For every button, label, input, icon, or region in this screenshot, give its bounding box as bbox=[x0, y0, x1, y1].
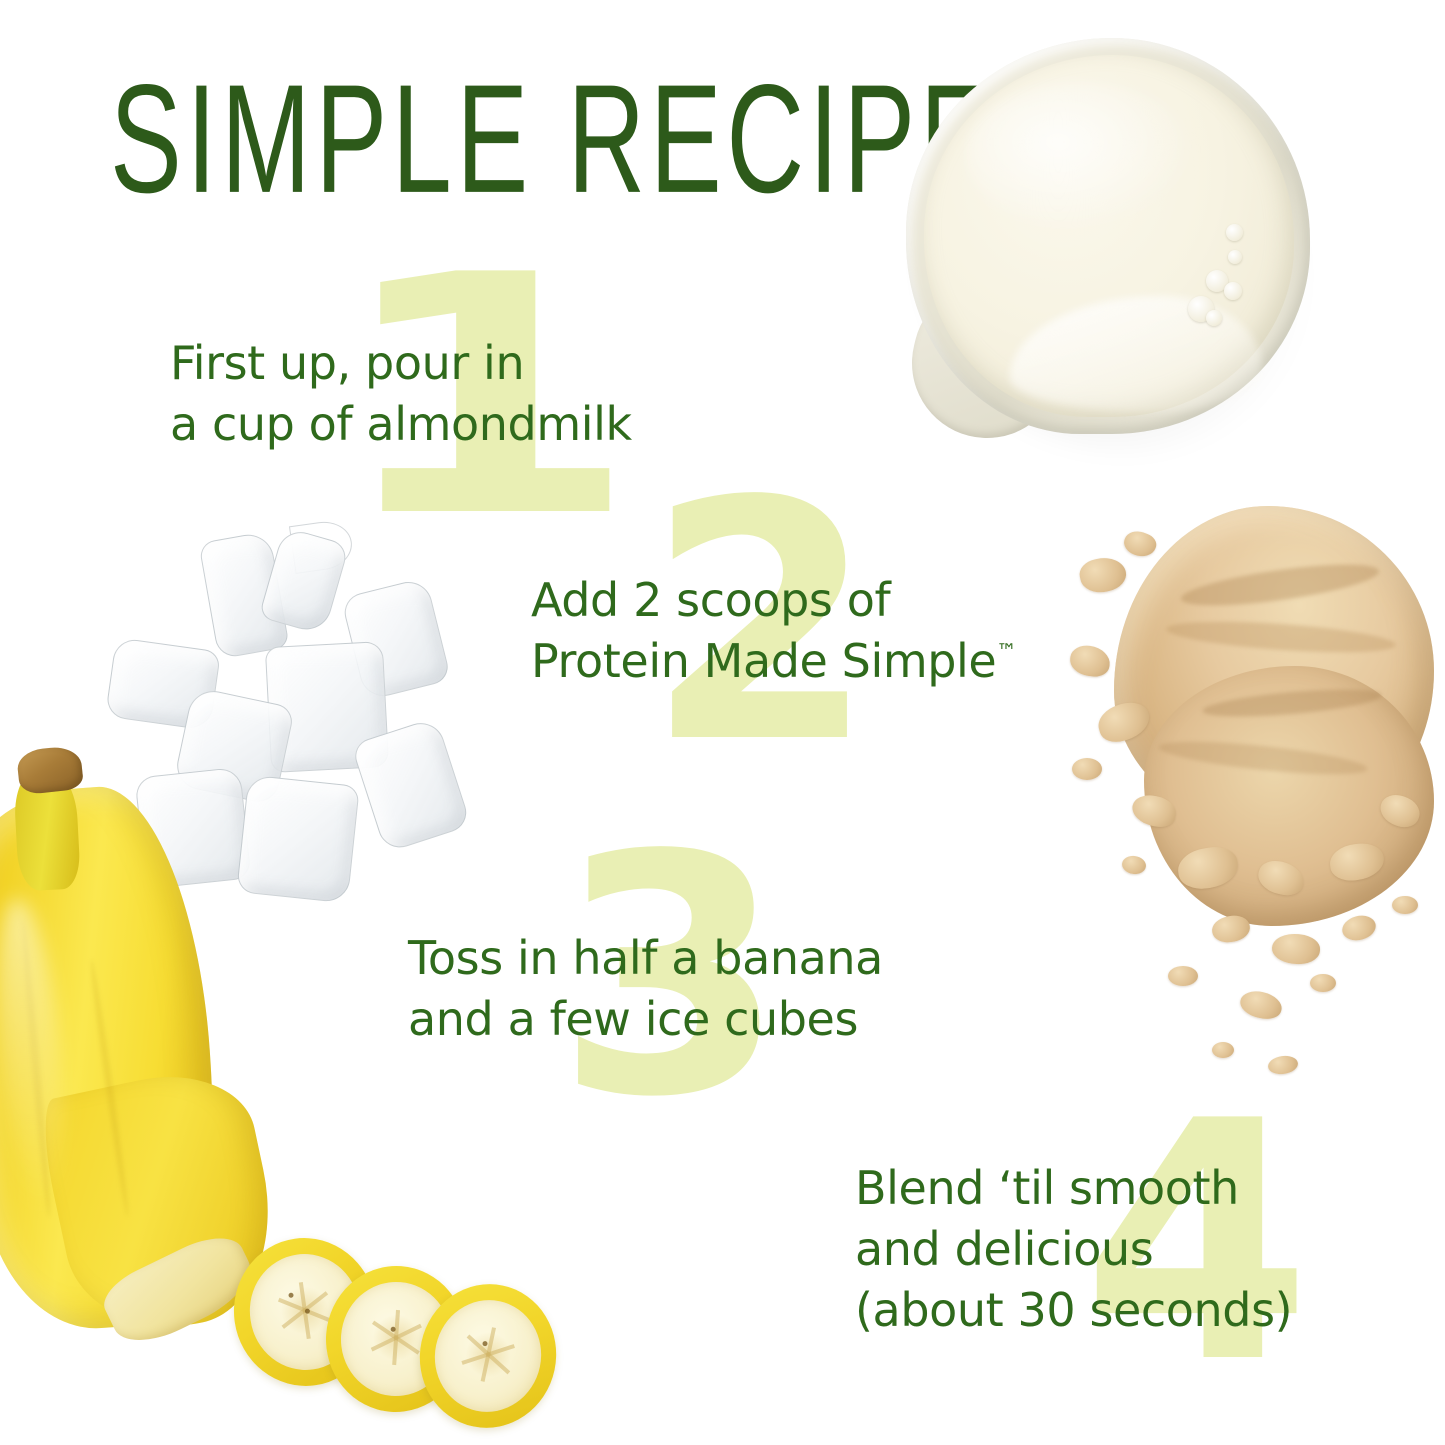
powder-crumb bbox=[1340, 912, 1379, 944]
step-2-text: Add 2 scoops of Protein Made Simple™ bbox=[531, 570, 1017, 692]
powder-crumb bbox=[1068, 643, 1112, 678]
step-1-line-2: a cup of almondmilk bbox=[170, 394, 632, 455]
step-4-line-3: (about 30 seconds) bbox=[855, 1280, 1292, 1341]
milk-bubble bbox=[1228, 250, 1242, 264]
recipe-infographic: SIMPLE RECIPE 1 First up, pour in a cup … bbox=[0, 0, 1445, 1445]
step-2-line-2: Protein Made Simple™ bbox=[531, 631, 1017, 692]
banana-image bbox=[0, 748, 294, 1348]
milk-bubble bbox=[1206, 310, 1222, 326]
powder-crumb bbox=[1072, 758, 1102, 780]
banana-seed-dot bbox=[482, 1340, 488, 1346]
trademark-symbol: ™ bbox=[996, 639, 1016, 663]
step-4-line-2: and delicious bbox=[855, 1219, 1292, 1280]
page-title: SIMPLE RECIPE bbox=[110, 62, 996, 217]
powder-crumb bbox=[1077, 554, 1129, 597]
banana-slice-core bbox=[369, 1308, 423, 1367]
step-3-line-2: and a few ice cubes bbox=[408, 989, 883, 1050]
step-4-text: Blend ‘til smooth and delicious (about 3… bbox=[855, 1158, 1292, 1342]
almondmilk-glass-image bbox=[906, 38, 1326, 456]
powder-crumb bbox=[1271, 932, 1322, 967]
powder-crumb bbox=[1267, 1054, 1299, 1076]
step-2-line-1: Add 2 scoops of bbox=[531, 570, 1017, 631]
step-4-line-1: Blend ‘til smooth bbox=[855, 1158, 1292, 1219]
step-1-line-1: First up, pour in bbox=[170, 333, 632, 394]
powder-crumb bbox=[1168, 966, 1198, 986]
milk-bubble bbox=[1224, 282, 1242, 300]
step-2-line-2-label: Protein Made Simple bbox=[531, 634, 996, 688]
powder-crumb bbox=[1392, 896, 1418, 914]
ice-cube bbox=[258, 526, 349, 635]
powder-crumb bbox=[1121, 527, 1159, 560]
protein-powder-image bbox=[1062, 496, 1445, 1118]
powder-crumb bbox=[1238, 988, 1284, 1022]
milk-bubble bbox=[1226, 224, 1243, 241]
step-3-text: Toss in half a banana and a few ice cube… bbox=[408, 928, 883, 1050]
powder-crumb bbox=[1212, 1042, 1234, 1058]
powder-crumb bbox=[1121, 854, 1147, 875]
banana-stem bbox=[16, 745, 84, 795]
milk-highlight bbox=[966, 82, 1196, 232]
powder-crumb bbox=[1310, 974, 1336, 992]
step-1-text: First up, pour in a cup of almondmilk bbox=[170, 333, 632, 455]
step-3-line-1: Toss in half a banana bbox=[408, 928, 883, 989]
